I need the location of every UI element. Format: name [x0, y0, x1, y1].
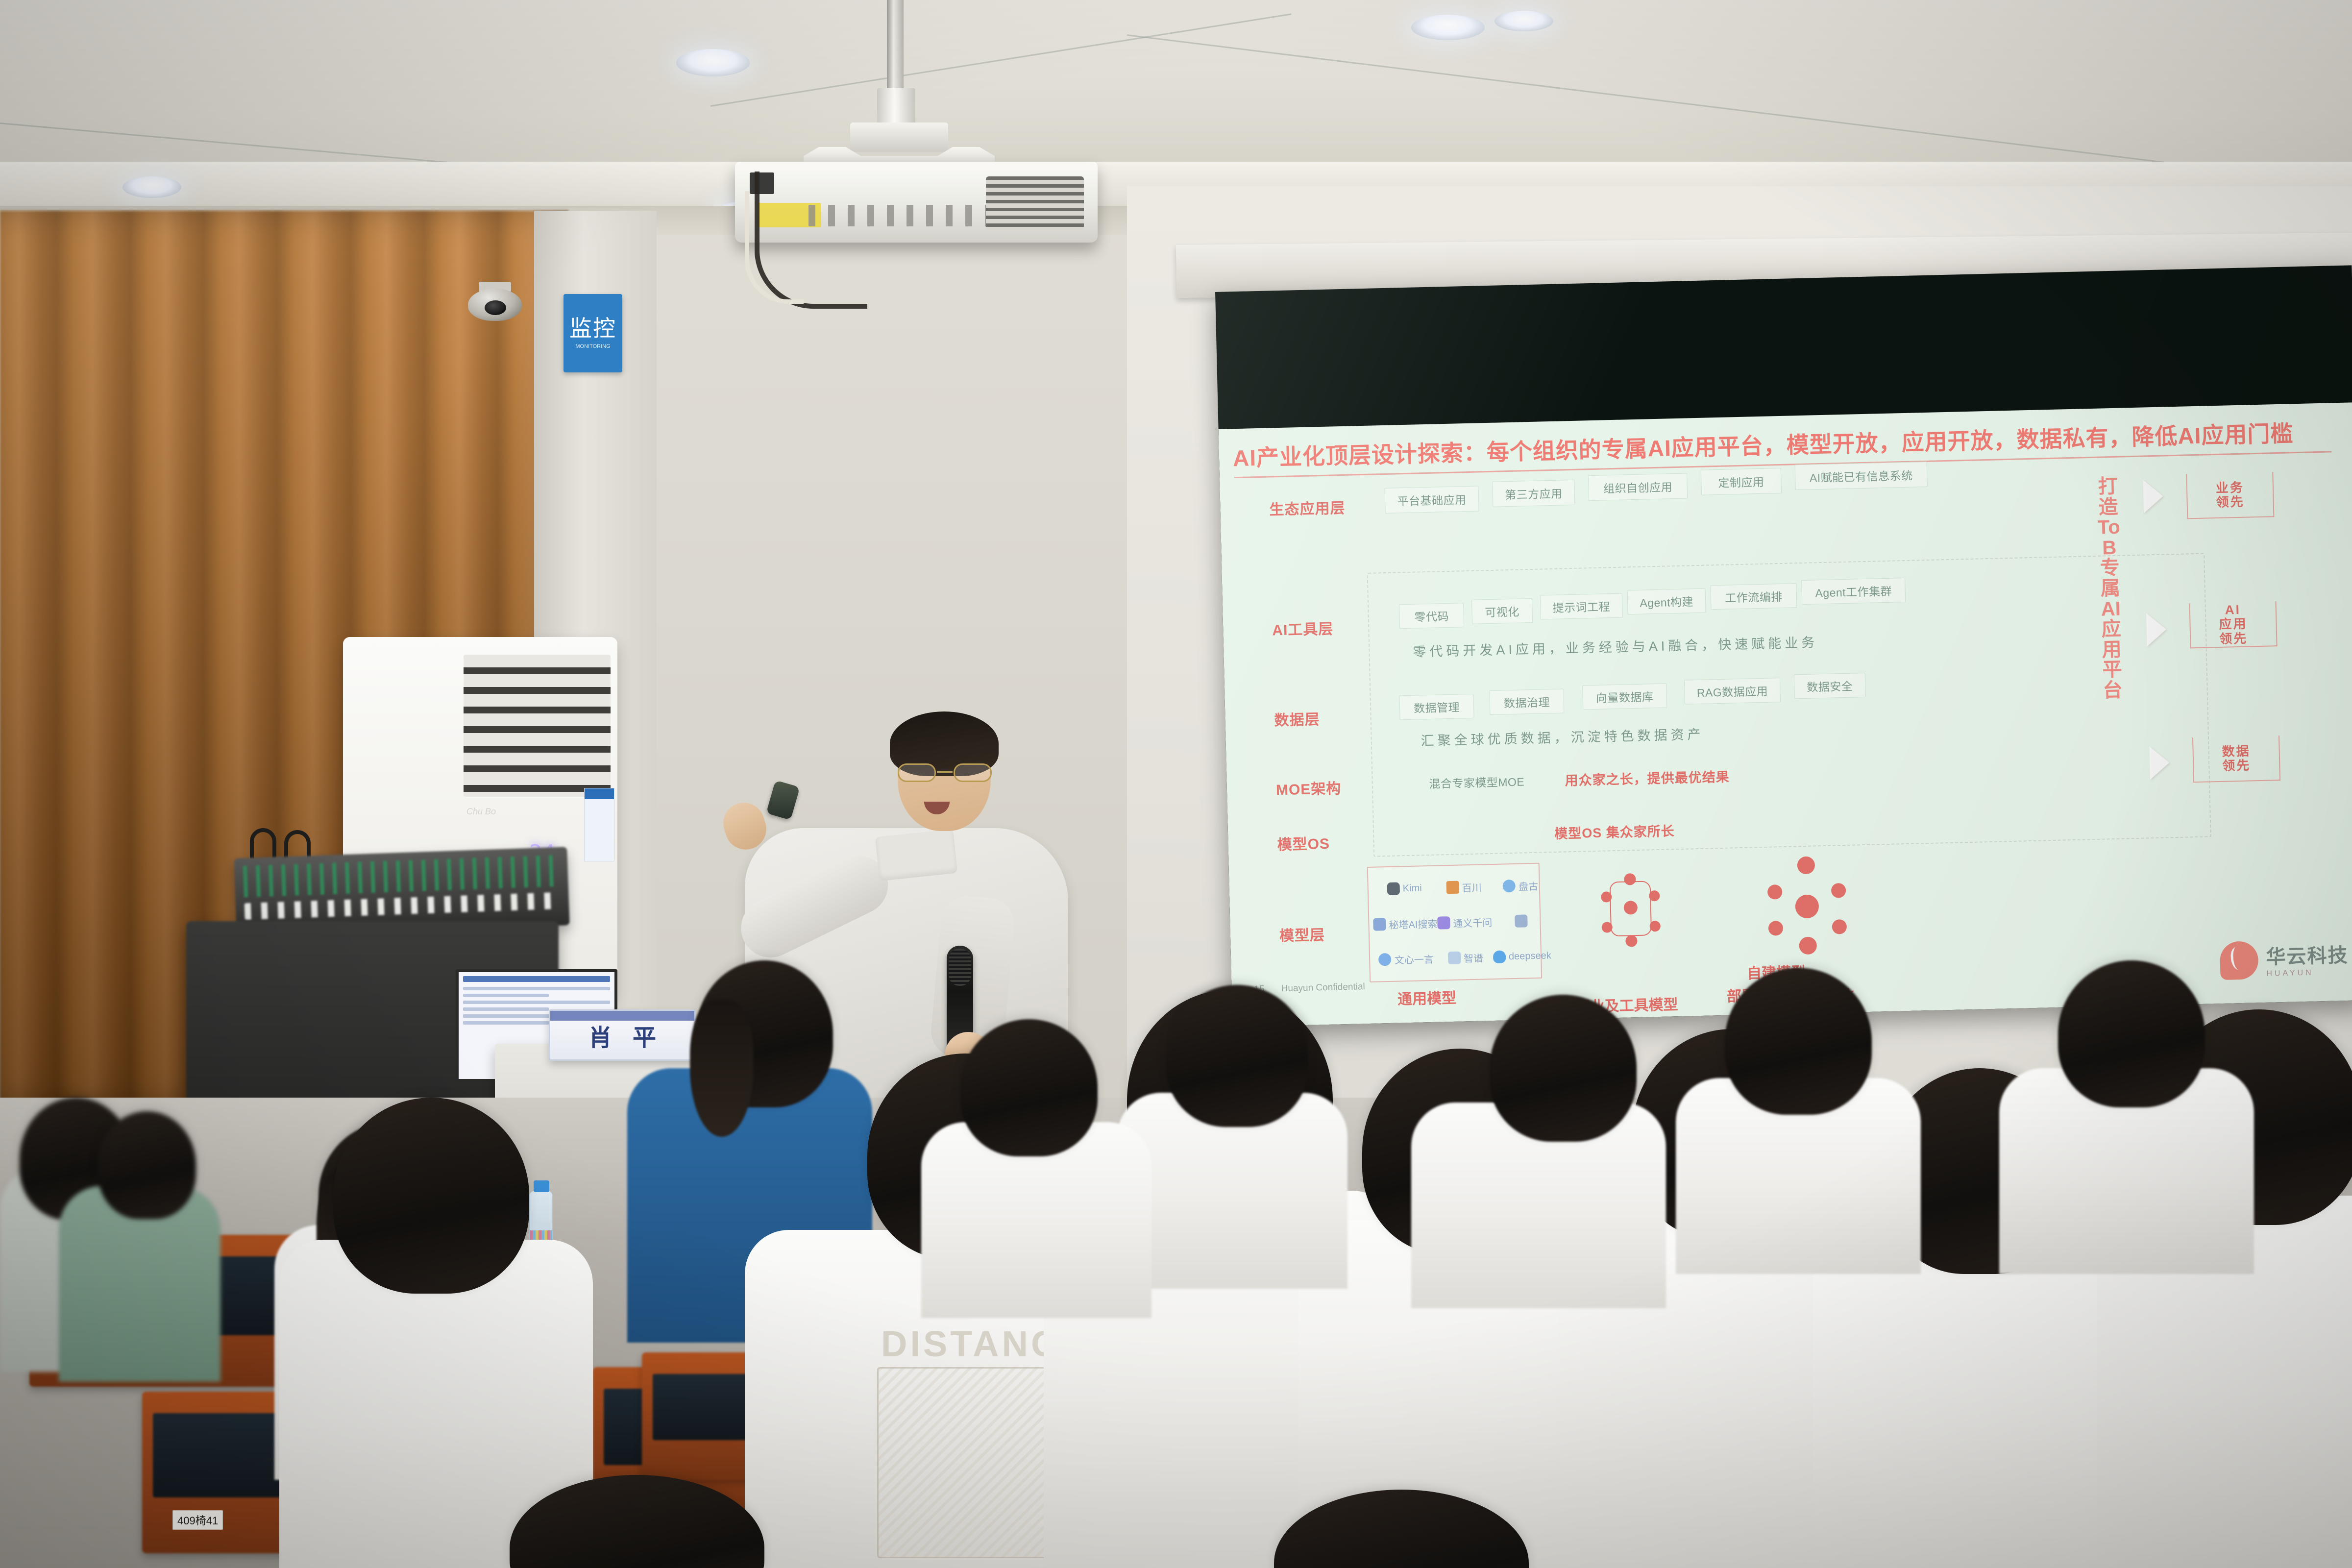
- deepseek-icon: [1493, 950, 1506, 963]
- metaso-icon: [1373, 918, 1386, 931]
- doubao-icon: [1515, 914, 1528, 928]
- nameplate-char-2: 平: [633, 1018, 656, 1053]
- audience-head: [333, 1098, 529, 1294]
- badge-line2: 领先: [2222, 758, 2251, 773]
- chip-third-party-app: 第三方应用: [1492, 480, 1575, 507]
- presentation-slide: AI产业化顶层设计探索：每个组织的专属AI应用平台，模型开放，应用开放，数据私有…: [1219, 402, 2352, 1027]
- mixer-knobs: [245, 892, 559, 920]
- monitor-text-line: [463, 994, 549, 997]
- baichuan-icon: [1446, 881, 1459, 894]
- chevron-right-icon: [2146, 612, 2167, 646]
- chip-zero-code: 零代码: [1399, 603, 1464, 629]
- energy-label-sticker: [584, 788, 614, 861]
- badge-line1: AI: [2225, 602, 2241, 617]
- badge-line1: 数据: [2222, 743, 2251, 759]
- seat-tag: 409椅41: [172, 1510, 223, 1530]
- projector-mount-rod: [887, 0, 904, 93]
- tongyi-icon: [1437, 916, 1450, 930]
- kimi-icon: [1387, 882, 1400, 895]
- badge-ai-application-leading: AI应用领先: [2189, 601, 2278, 648]
- logo-label: 智谱: [1464, 950, 1484, 965]
- ceiling-downlight: [122, 176, 181, 198]
- slide-confidential-note: Huayun Confidential: [1281, 981, 1365, 994]
- layer-label-model-os: 模型OS: [1277, 832, 1330, 855]
- chip-vector-database: 向量数据库: [1582, 684, 1667, 710]
- logo-label: 百川: [1462, 880, 1482, 894]
- brand-name-cn: 华云科技: [2266, 945, 2349, 968]
- monitor-text-line: [463, 987, 610, 990]
- logo-doubao: [1515, 914, 1528, 928]
- audience-head: [98, 1111, 196, 1219]
- logo-label: 通义千问: [1453, 915, 1493, 930]
- layer-label-ecosystem: 生态应用层: [1269, 496, 1346, 519]
- logo-deepseek: deepseek: [1493, 949, 1551, 963]
- mixer-faders: [243, 855, 558, 897]
- layer-label-moe: MOE架构: [1275, 776, 1341, 799]
- monitor-text-line: [463, 1021, 549, 1025]
- audience-head: [1490, 995, 1637, 1142]
- chip-custom-app: 定制应用: [1701, 468, 1782, 495]
- ceiling-downlight: [1494, 11, 1553, 31]
- logo-label: 文心一言: [1394, 951, 1434, 966]
- pangu-icon: [1503, 880, 1516, 893]
- audience-head: [1166, 985, 1308, 1127]
- dome-camera-icon: [468, 282, 522, 323]
- badge-line3: 领先: [2219, 631, 2248, 646]
- chevron-right-icon: [2149, 746, 2170, 780]
- chip-data-security: 数据安全: [1794, 673, 1866, 699]
- logo-label: Kimi: [1403, 882, 1422, 894]
- audience-head: [1725, 968, 1872, 1115]
- general-model-logo-panel: Kimi 百川 盘古 秘塔AI搜索 通义千问 文心一言 智谱 deepseek: [1367, 863, 1542, 982]
- logo-tongyi-qianwen: 通义千问: [1437, 915, 1493, 931]
- industry-model-hex-icon: [1600, 873, 1661, 948]
- projector-mount-block: [877, 88, 915, 126]
- lecture-hall-photo: 监控 MONITORING AI产业化顶层设计探索：每个组织的专属AI应用平台，…: [0, 0, 2352, 1568]
- logo-label: 秘塔AI搜索: [1389, 916, 1438, 931]
- layer-label-ai-tools: AI工具层: [1272, 617, 1334, 640]
- nameplate-char-1: 肖: [588, 1018, 612, 1053]
- chip-ai-enable-existing-systems: AI赋能已有信息系统: [1795, 462, 1928, 490]
- badge-line2: 领先: [2216, 494, 2245, 510]
- logo-label: deepseek: [1509, 950, 1551, 962]
- brand-name-en: HUAYUN: [2266, 969, 2314, 978]
- chip-data-governance: 数据治理: [1489, 688, 1564, 715]
- wenxin-icon: [1378, 953, 1392, 966]
- chip-rag-data-application: RAG数据应用: [1684, 678, 1781, 705]
- chip-data-management: 数据管理: [1399, 694, 1474, 720]
- tagline-model-os: 模型OS 集众家所长: [1554, 820, 1675, 842]
- camera-lens: [485, 300, 506, 315]
- air-conditioner-brand-label: Chu Bo: [466, 807, 496, 817]
- logo-pangu: 盘古: [1503, 878, 1539, 893]
- logo-zhipu: 智谱: [1448, 950, 1484, 965]
- audience-head: [2058, 960, 2205, 1107]
- monitor-header-bar: [463, 976, 610, 982]
- projector-vent: [986, 176, 1084, 230]
- chip-visualization: 可视化: [1471, 598, 1533, 624]
- company-brand: 华云科技 HUAYUN: [2220, 939, 2349, 980]
- ceiling-downlight: [676, 49, 750, 76]
- chip-workflow-orchestration: 工作流编排: [1710, 583, 1797, 610]
- logo-label: 盘古: [1519, 878, 1539, 893]
- projector-bracket: [850, 122, 948, 152]
- chip-moe-mixture-of-experts: 混合专家模型MOE: [1403, 768, 1550, 795]
- projection-screen: AI产业化顶层设计探索：每个组织的专属AI应用平台，模型开放，应用开放，数据私有…: [1215, 265, 2352, 1027]
- monitor-text-line: [463, 1001, 610, 1004]
- vertical-claim-text: 打造To B专属AI应用平台: [2095, 477, 2126, 702]
- surveillance-sign-label: 监控: [569, 317, 616, 340]
- badge-business-leading: 业务领先: [2186, 472, 2274, 519]
- logo-kimi: Kimi: [1387, 882, 1421, 895]
- presenter-glasses-icon: [896, 763, 994, 783]
- chip-prompt-engineering: 提示词工程: [1540, 593, 1623, 620]
- air-conditioner-grille: [464, 655, 611, 797]
- caption-general-model: 通用模型: [1397, 990, 1457, 1009]
- audience-ponytail: [690, 1000, 754, 1137]
- surveillance-sign: 监控 MONITORING: [563, 294, 622, 372]
- badge-line1: 业务: [2216, 480, 2245, 495]
- slide-body: 生态应用层 平台基础应用 第三方应用 组织自创应用 定制应用 AI赋能已有信息系…: [1220, 461, 2352, 1027]
- surveillance-sign-subtext: MONITORING: [575, 344, 610, 350]
- chip-org-self-built-app: 组织自创应用: [1588, 473, 1688, 501]
- chevron-right-icon: [2143, 480, 2164, 514]
- podium-nameplate: 肖 平: [549, 1009, 696, 1061]
- logo-baichuan: 百川: [1446, 880, 1482, 895]
- logo-metaso: 秘塔AI搜索: [1373, 916, 1438, 931]
- monitor-text-line: [463, 1007, 549, 1011]
- huayun-logo-icon: [2220, 941, 2259, 980]
- chip-agent-work-cluster: Agent工作集群: [1801, 578, 1906, 605]
- logo-wenxin-yiyan: 文心一言: [1378, 951, 1434, 967]
- chip-platform-basic-app: 平台基础应用: [1385, 486, 1479, 514]
- presenter-collar: [875, 829, 958, 881]
- ceiling-downlight: [1411, 15, 1485, 40]
- chip-agent-build: Agent构建: [1627, 588, 1706, 615]
- badge-line2: 应用: [2219, 616, 2248, 632]
- layer-label-data: 数据层: [1274, 707, 1320, 730]
- audience-head: [960, 1019, 1098, 1156]
- zhipu-icon: [1448, 952, 1461, 965]
- self-built-model-network-icon: [1766, 856, 1847, 955]
- tagline-moe: 用众家之长，提供最优结果: [1565, 766, 1730, 789]
- layer-label-model: 模型层: [1279, 923, 1325, 945]
- badge-data-leading: 数据领先: [2192, 735, 2280, 783]
